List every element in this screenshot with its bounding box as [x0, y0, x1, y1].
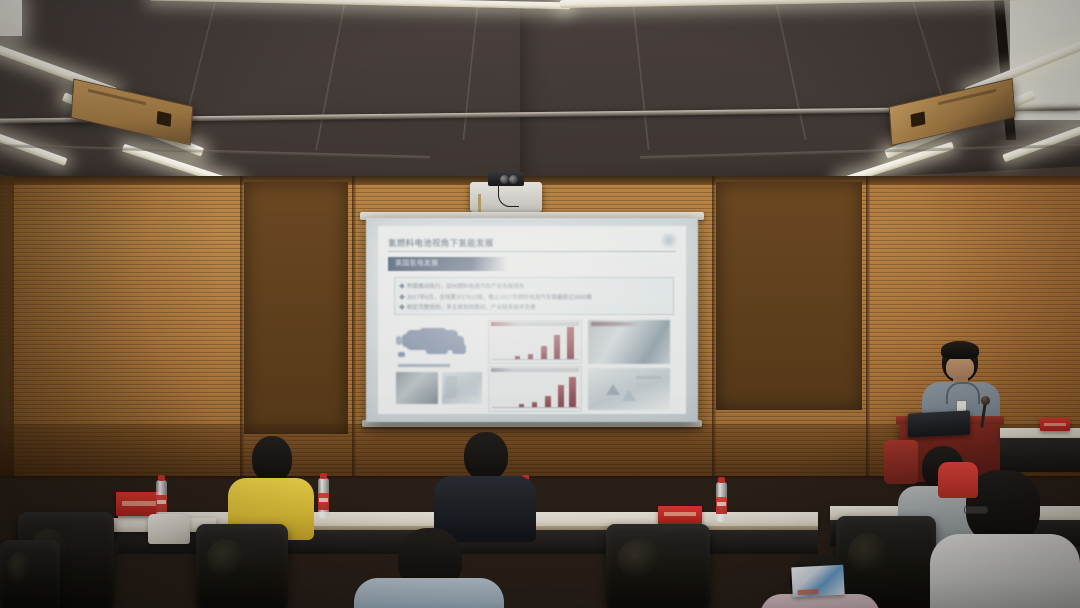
slide-bullet-box: 积极推动执行，加州燃料电池汽车产业布局领先 2017年6月，全球累计27612座…	[394, 277, 674, 315]
slide-title-rule	[388, 251, 676, 252]
laptop[interactable]	[908, 410, 970, 437]
photo-vehicle	[396, 372, 438, 404]
list-item: 2017年6月，全球累计27612座，截止2017年燃料电池汽车销量超过3000…	[400, 292, 668, 303]
slide-section-band: 美国氢电发展	[388, 257, 508, 271]
head-table-front	[1000, 438, 1080, 472]
attendee-torso	[760, 594, 880, 608]
photo-infographic	[442, 372, 482, 404]
attendee-head	[252, 436, 292, 482]
wall-recess-panel-right	[716, 182, 862, 410]
presenter-hair	[941, 341, 979, 359]
bottle-label	[156, 495, 167, 512]
projection-screen: 氢燃料电池视角下氢能发展 美国氢电发展 积极推动执行，加州燃料电池汽车产业布局领…	[366, 218, 698, 422]
wall-recess-panel-left	[244, 182, 348, 434]
attendee-torso	[930, 534, 1080, 608]
bottle-cap-icon	[158, 475, 165, 481]
name-placard	[1040, 418, 1070, 431]
slide-title: 氢燃料电池视角下氢能发展	[388, 235, 648, 250]
slide-media-grid	[392, 320, 676, 408]
water-bottle	[716, 482, 727, 522]
projector-body	[470, 182, 542, 212]
chair-foreground-far-left	[0, 540, 60, 608]
bullet-text: 2017年6月，全球累计27612座，截止2017年燃料电池汽车销量超过3000…	[407, 293, 592, 301]
slide-section-label: 美国氢电发展	[388, 257, 508, 268]
photo-caption-bar	[591, 322, 639, 326]
glasses-icon	[964, 506, 988, 514]
bullet-diamond-icon	[399, 283, 405, 289]
bar-chart-upper	[488, 320, 582, 364]
ceiling	[0, 0, 1080, 182]
booklet	[791, 565, 844, 598]
bottle-cap-icon	[718, 477, 725, 483]
projector-lens-icon	[500, 175, 509, 184]
chair-foreground-center	[606, 524, 710, 608]
attendee-red-shirt	[938, 452, 978, 498]
attendee-torso	[938, 462, 978, 498]
white-bag	[148, 514, 190, 544]
list-item: 积极推动执行，加州燃料电池汽车产业布局领先	[400, 281, 668, 292]
bullet-diamond-icon	[399, 294, 405, 300]
name-placard	[658, 506, 702, 524]
ceiling-daylight-window	[0, 0, 22, 36]
list-item: 制定完整规划，多主体协同推动，产业链条逐步完善	[400, 302, 668, 313]
bullet-diamond-icon	[399, 304, 405, 310]
bar-chart-lower	[488, 366, 582, 412]
chair-foreground-left-2	[196, 524, 288, 608]
attendee-torso	[354, 578, 504, 608]
water-bottle	[318, 478, 329, 518]
bottle-label	[318, 493, 329, 510]
projector-lens-icon	[509, 175, 518, 184]
lecture-hall-photo: 氢燃料电池视角下氢能发展 美国氢电发展 积极推动执行，加州燃料电池汽车产业布局领…	[0, 0, 1080, 608]
us-map-figure	[396, 322, 472, 364]
presentation-slide: 氢燃料电池视角下氢能发展 美国氢电发展 积极推动执行，加州燃料电池汽车产业布局领…	[378, 226, 686, 414]
bullet-text: 制定完整规划，多主体协同推动，产业链条逐步完善	[407, 303, 536, 311]
bottle-cap-icon	[320, 473, 327, 479]
attendee-yellow-shirt	[228, 436, 314, 532]
projector-cable	[498, 184, 519, 207]
organization-logo-icon	[660, 233, 678, 249]
attendee-head	[464, 432, 508, 480]
bottle-label	[716, 497, 727, 514]
attendee-blue-shirt-foreground	[354, 528, 504, 608]
projector-arm	[478, 194, 481, 212]
photo-station	[588, 320, 670, 364]
attendee-dark-shirt	[434, 432, 536, 532]
photo-diagram	[588, 368, 670, 410]
bullet-text: 积极推动执行，加州燃料电池汽车产业布局领先	[407, 282, 524, 290]
